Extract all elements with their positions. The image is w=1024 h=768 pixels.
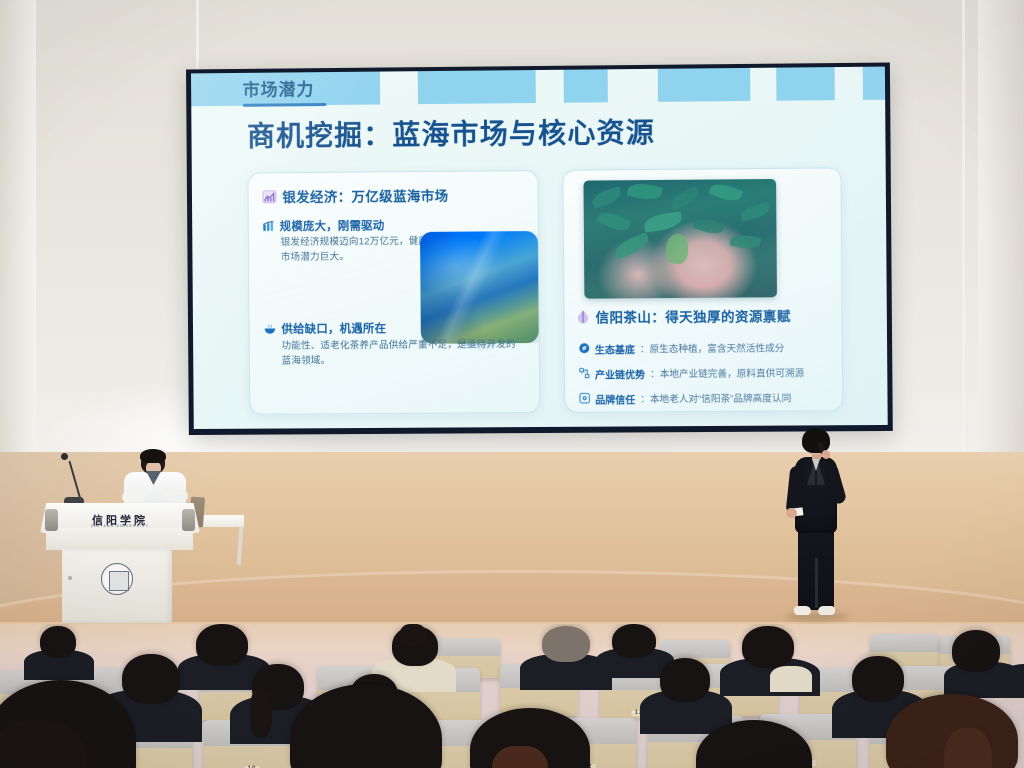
podium-front-panel	[46, 528, 193, 550]
presentation-slide: 市场潜力 商机挖掘：蓝海市场与核心资源	[191, 67, 888, 429]
left-point-1-title: 规模庞大，刚需驱动	[263, 217, 385, 234]
band-block	[564, 69, 608, 102]
audience-member	[1000, 664, 1024, 698]
left-card-heading: 银发经济：万亿级蓝海市场	[262, 185, 448, 207]
leaf-badge-icon	[579, 343, 590, 354]
podium-institution-name-en: XINYANG UNIVERSITY	[68, 524, 172, 528]
right-item-2-term: 产业链优势	[595, 366, 645, 381]
audience-head	[952, 630, 1000, 672]
presenter-shoe-right	[818, 606, 835, 615]
presenter-leg-gap	[815, 558, 818, 608]
right-item-1-term: 生态基底	[595, 341, 635, 356]
leaf-drop-icon	[576, 310, 589, 324]
right-card-heading-text: 信阳茶山：得天独厚的资源禀赋	[595, 305, 790, 326]
kicker-underline	[243, 103, 327, 106]
right-item-1-desc: ：原生态种植，富含天然活性成分	[640, 340, 785, 355]
right-item-3-desc: ：本地老人对“信阳茶”品牌高度认同	[640, 390, 791, 405]
right-list-item-1: 生态基底 ：原生态种植，富含天然活性成分	[579, 340, 785, 356]
presenter-hand-left	[786, 508, 797, 518]
bar-chart-icon	[262, 190, 276, 203]
tea-bowl-icon	[263, 323, 276, 334]
tea-picking-hands-image	[583, 179, 777, 299]
slide-title: 商机挖掘：蓝海市场与核心资源	[247, 111, 655, 155]
band-block	[863, 67, 888, 100]
audience-ponytail	[250, 688, 272, 738]
wall-left-column	[0, 0, 36, 470]
left-content-card: 银发经济：万亿级蓝海市场 规模庞大，刚需驱动 银发经济规模迈向12万亿元，健康消…	[247, 170, 540, 415]
university-emblem	[101, 563, 133, 595]
podium-latch	[68, 576, 72, 580]
band-block	[776, 67, 835, 101]
right-list-item-2: 产业链优势 ：本地产业链完善，原料直供可溯源	[579, 365, 804, 381]
podium-speaker-right	[182, 509, 195, 531]
brand-seal-icon	[579, 393, 590, 404]
audience-head	[40, 626, 76, 658]
audience-collar	[770, 666, 812, 692]
audience-head	[660, 658, 710, 702]
right-item-3-term: 品牌信任	[595, 391, 635, 406]
audience-head	[852, 656, 904, 702]
right-card-heading: 信阳茶山：得天独厚的资源禀赋	[576, 305, 790, 327]
left-card-heading-text: 银发经济：万亿级蓝海市场	[282, 185, 448, 206]
podium-speaker-left	[45, 509, 58, 531]
seated-person-hair	[140, 449, 166, 463]
audience-area: 11 12 10 12 13	[0, 624, 1024, 768]
left-point-2-title-text: 供给缺口，机遇所在	[281, 320, 386, 337]
right-item-2-desc: ：本地产业链完善，原料直供可溯源	[650, 365, 804, 380]
lecture-hall-scene: 市场潜力 商机挖掘：蓝海市场与核心资源	[0, 0, 1024, 768]
presenter	[780, 428, 852, 626]
band-block	[658, 68, 751, 102]
right-content-card: 信阳茶山：得天独厚的资源禀赋 生态基底 ：原生态种植，富含天然活性成分	[562, 167, 843, 413]
audience-ponytail	[400, 624, 426, 646]
projection-screen: 市场潜力 商机挖掘：蓝海市场与核心资源	[186, 63, 893, 436]
microphone-head	[61, 453, 68, 460]
audience-head	[612, 624, 656, 658]
left-point-2-title: 供给缺口，机遇所在	[263, 320, 386, 337]
audience-head	[742, 626, 794, 668]
wall-seam	[962, 0, 965, 470]
left-point-2-body: 功能性、适老化茶养产品供给严重不足，是亟待开发的蓝海领域。	[281, 338, 522, 369]
band-block	[418, 70, 536, 104]
presenter-shoe-left	[794, 606, 811, 615]
supply-chain-icon	[579, 368, 590, 379]
growth-chart-icon	[263, 221, 275, 232]
wall-right-column	[978, 0, 1024, 470]
left-point-1-title-text: 规模庞大，刚需驱动	[280, 217, 385, 234]
mountain-landscape-image	[420, 231, 539, 344]
audience-head	[542, 626, 590, 662]
audience-head	[122, 654, 180, 704]
audience-head	[196, 624, 248, 666]
right-list-item-3: 品牌信任 ：本地老人对“信阳茶”品牌高度认同	[579, 390, 791, 406]
slide-kicker: 市场潜力	[243, 75, 315, 101]
